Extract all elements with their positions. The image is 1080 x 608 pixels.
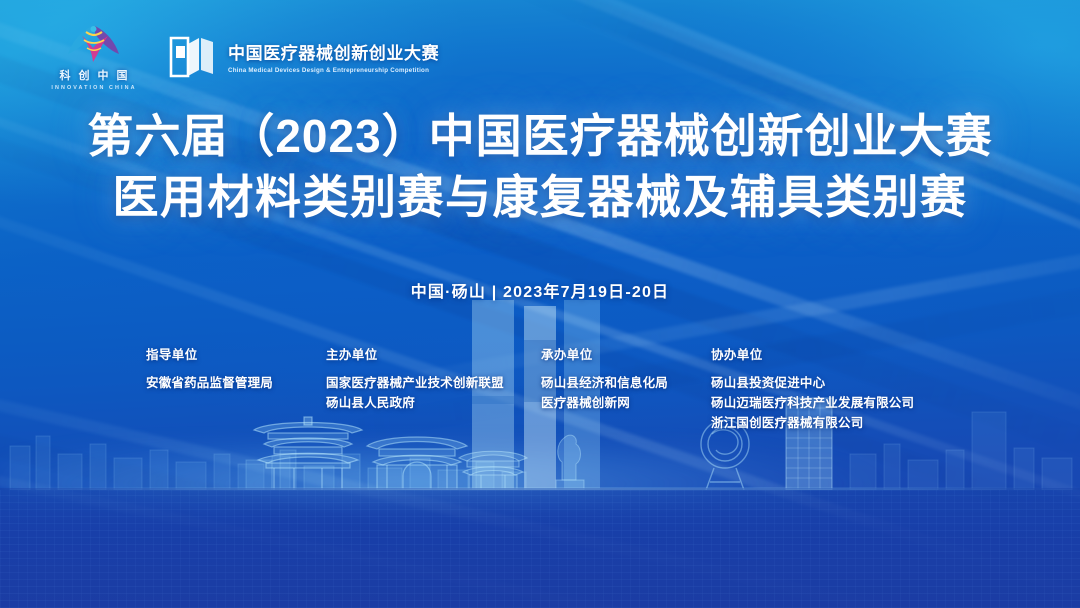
organizer-heading: 指导单位 — [146, 344, 326, 363]
innovation-china-cn-text: 科 创 中 国 — [60, 67, 129, 83]
title-line-1: 第六届（2023）中国医疗器械创新创业大赛 — [0, 106, 1080, 167]
kc-char-2: 中 — [98, 67, 110, 83]
competition-en-title: China Medical Devices Design & Entrepren… — [228, 67, 439, 74]
organizer-item: 浙江国创医疗器械有限公司 — [711, 413, 961, 433]
header-logos: 科 创 中 国 INNOVATION CHINA 中国医疗器械创新创业大赛 Ch… — [46, 22, 439, 91]
organizer-heading: 协办单位 — [711, 344, 961, 363]
organizer-column-undertaker: 承办单位 砀山县经济和信息化局 医疗器械创新网 — [541, 344, 711, 433]
kc-char-3: 国 — [117, 67, 129, 83]
organizer-item: 安徽省药品监督管理局 — [146, 373, 326, 393]
statue-monument — [548, 430, 592, 490]
event-poster-banner: 科 创 中 国 INNOVATION CHINA 中国医疗器械创新创业大赛 Ch… — [0, 0, 1080, 608]
competition-logo: 中国医疗器械创新创业大赛 China Medical Devices Desig… — [168, 34, 439, 80]
open-door-icon — [168, 34, 216, 80]
pagoda-hall-medium — [363, 428, 471, 490]
innovation-china-bird-icon — [62, 22, 126, 64]
organizer-item: 国家医疗器械产业技术创新联盟 — [326, 373, 541, 393]
organizer-heading: 承办单位 — [541, 344, 711, 363]
pagoda-hall-small — [455, 444, 531, 490]
innovation-china-en-text: INNOVATION CHINA — [51, 85, 136, 91]
organizer-item: 砀山县投资促进中心 — [711, 373, 961, 393]
skyline-glow — [0, 442, 1080, 512]
innovation-china-logo: 科 创 中 国 INNOVATION CHINA — [46, 22, 142, 91]
organizer-item: 砀山县经济和信息化局 — [541, 373, 711, 393]
poster-title-block: 第六届（2023）中国医疗器械创新创业大赛 医用材料类别赛与康复器械及辅具类别赛 — [0, 106, 1080, 227]
organizer-column-host: 主办单位 国家医疗器械产业技术创新联盟 砀山县人民政府 — [326, 344, 541, 433]
organizer-column-guidance: 指导单位 安徽省药品监督管理局 — [146, 344, 326, 433]
light-ray — [0, 408, 1080, 608]
ground-plane — [0, 488, 1080, 608]
skyline-horizon-line — [0, 488, 1080, 490]
organizer-column-coorganizer: 协办单位 砀山县投资促进中心 砀山迈瑞医疗科技产业发展有限公司 浙江国创医疗器械… — [711, 344, 961, 433]
competition-logo-text: 中国医疗器械创新创业大赛 China Medical Devices Desig… — [228, 39, 439, 74]
organizer-item: 砀山迈瑞医疗科技产业发展有限公司 — [711, 393, 961, 413]
location-date-line: 中国·砀山 | 2023年7月19日-20日 — [0, 278, 1080, 302]
organizer-columns: 指导单位 安徽省药品监督管理局 主办单位 国家医疗器械产业技术创新联盟 砀山县人… — [146, 344, 961, 433]
title-line-2: 医用材料类别赛与康复器械及辅具类别赛 — [0, 167, 1080, 228]
ground-grid — [0, 490, 1080, 608]
kc-char-1: 创 — [79, 67, 91, 83]
light-ray-layer — [0, 0, 1080, 608]
organizer-item: 砀山县人民政府 — [326, 393, 541, 413]
organizer-item: 医疗器械创新网 — [541, 393, 711, 413]
kc-char-0: 科 — [60, 67, 72, 83]
competition-cn-title: 中国医疗器械创新创业大赛 — [228, 39, 439, 64]
organizer-heading: 主办单位 — [326, 344, 541, 363]
